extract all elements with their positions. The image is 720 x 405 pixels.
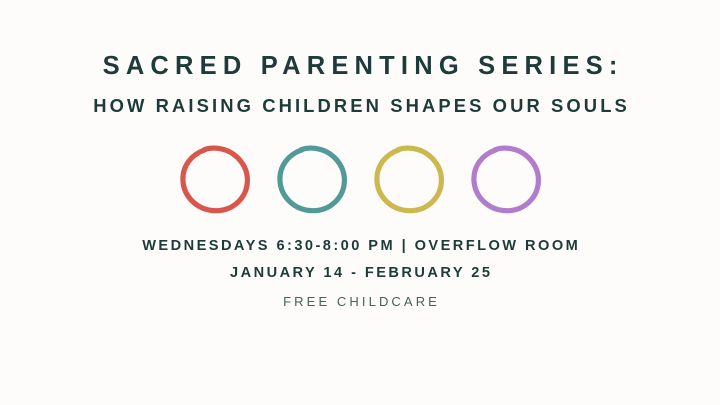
enso-circle-icon bbox=[179, 143, 251, 215]
enso-circle-icon bbox=[276, 143, 348, 215]
page-subtitle: HOW RAISING CHILDREN SHAPES OUR SOULS bbox=[0, 95, 720, 117]
event-childcare-note: FREE CHILDCARE bbox=[0, 294, 720, 310]
headline-block: SACRED PARENTING SERIES: HOW RAISING CHI… bbox=[0, 52, 720, 117]
event-details-block: WEDNESDAYS 6:30-8:00 PM | OVERFLOW ROOM … bbox=[0, 237, 720, 311]
event-schedule: WEDNESDAYS 6:30-8:00 PM | OVERFLOW ROOM bbox=[0, 237, 720, 255]
event-dates: JANUARY 14 - FEBRUARY 25 bbox=[0, 264, 720, 282]
enso-circle-gold bbox=[373, 143, 445, 215]
enso-circle-teal bbox=[276, 143, 348, 215]
enso-circle-coral bbox=[179, 143, 251, 215]
enso-circle-icon bbox=[373, 143, 445, 215]
decorative-circles-row bbox=[179, 143, 542, 215]
enso-circle-icon bbox=[470, 143, 542, 215]
event-poster: SACRED PARENTING SERIES: HOW RAISING CHI… bbox=[0, 0, 720, 405]
enso-circle-purple bbox=[470, 143, 542, 215]
page-title: SACRED PARENTING SERIES: bbox=[0, 52, 720, 81]
